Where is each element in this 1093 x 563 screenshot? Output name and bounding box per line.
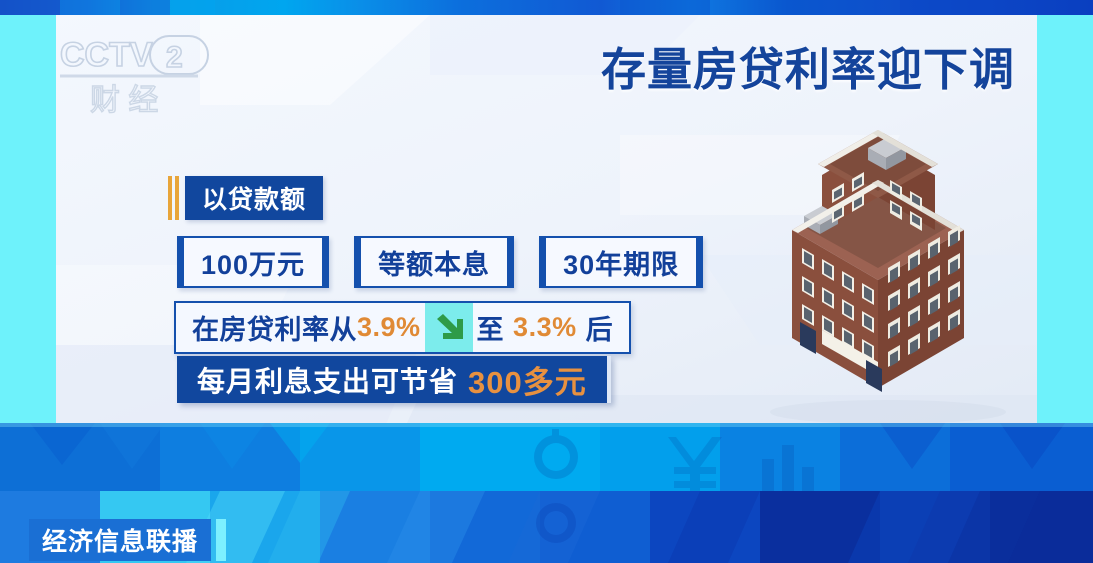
- condition-label: 等额本息: [378, 243, 490, 282]
- loan-conditions-row: 100万元 等额本息 30年期限: [177, 236, 703, 288]
- monthly-savings-banner: 每月利息支出可节省 300多元: [177, 356, 611, 403]
- cctv2-logo: CCTV 2 财 经: [58, 30, 223, 116]
- broadcast-graphic-stage: CCTV 2 财 经 存量房贷利率迎下调: [0, 0, 1093, 563]
- tag-accent-bar-2: [175, 176, 179, 220]
- right-edge-bar: [1037, 15, 1093, 423]
- condition-label: 30年期限: [563, 243, 679, 282]
- rate-prefix-text: 在房贷利率从: [192, 308, 357, 347]
- apartment-building-illustration: [760, 130, 1010, 425]
- condition-label: 100万元: [201, 243, 305, 282]
- left-edge-bar: [0, 15, 56, 423]
- page-title: 存量房贷利率迎下调: [601, 33, 1015, 98]
- rate-change-row: 在房贷利率从 3.9% 至 3.3% 后: [174, 301, 631, 354]
- program-accent-bar: [216, 519, 226, 561]
- tag-accent-bar-1: [168, 176, 172, 220]
- rate-to-value: 3.3%: [513, 312, 577, 343]
- top-accent-strip: [0, 0, 1093, 15]
- program-name-box: 经济信息联播: [29, 519, 211, 561]
- logo-sub-text: 财 经: [90, 84, 158, 116]
- savings-amount: 300多元: [468, 357, 587, 402]
- tag-label: 以贷款额: [185, 176, 323, 220]
- program-name: 经济信息联播: [42, 522, 198, 558]
- program-badge: 经济信息联播: [29, 519, 226, 561]
- condition-pill-repayment: 等额本息: [354, 236, 514, 288]
- loan-amount-tag: 以贷款额: [168, 176, 323, 220]
- condition-pill-term: 30年期限: [539, 236, 703, 288]
- rate-middle-text: 至: [477, 308, 505, 347]
- savings-text: 每月利息支出可节省: [197, 360, 458, 400]
- rate-suffix-text: 后: [586, 308, 614, 347]
- arrow-down-right-icon: [425, 303, 473, 352]
- logo-cctv-text: CCTV: [60, 36, 153, 74]
- rate-from-value: 3.9%: [357, 312, 421, 343]
- logo-number-text: 2: [166, 41, 183, 74]
- condition-pill-amount: 100万元: [177, 236, 329, 288]
